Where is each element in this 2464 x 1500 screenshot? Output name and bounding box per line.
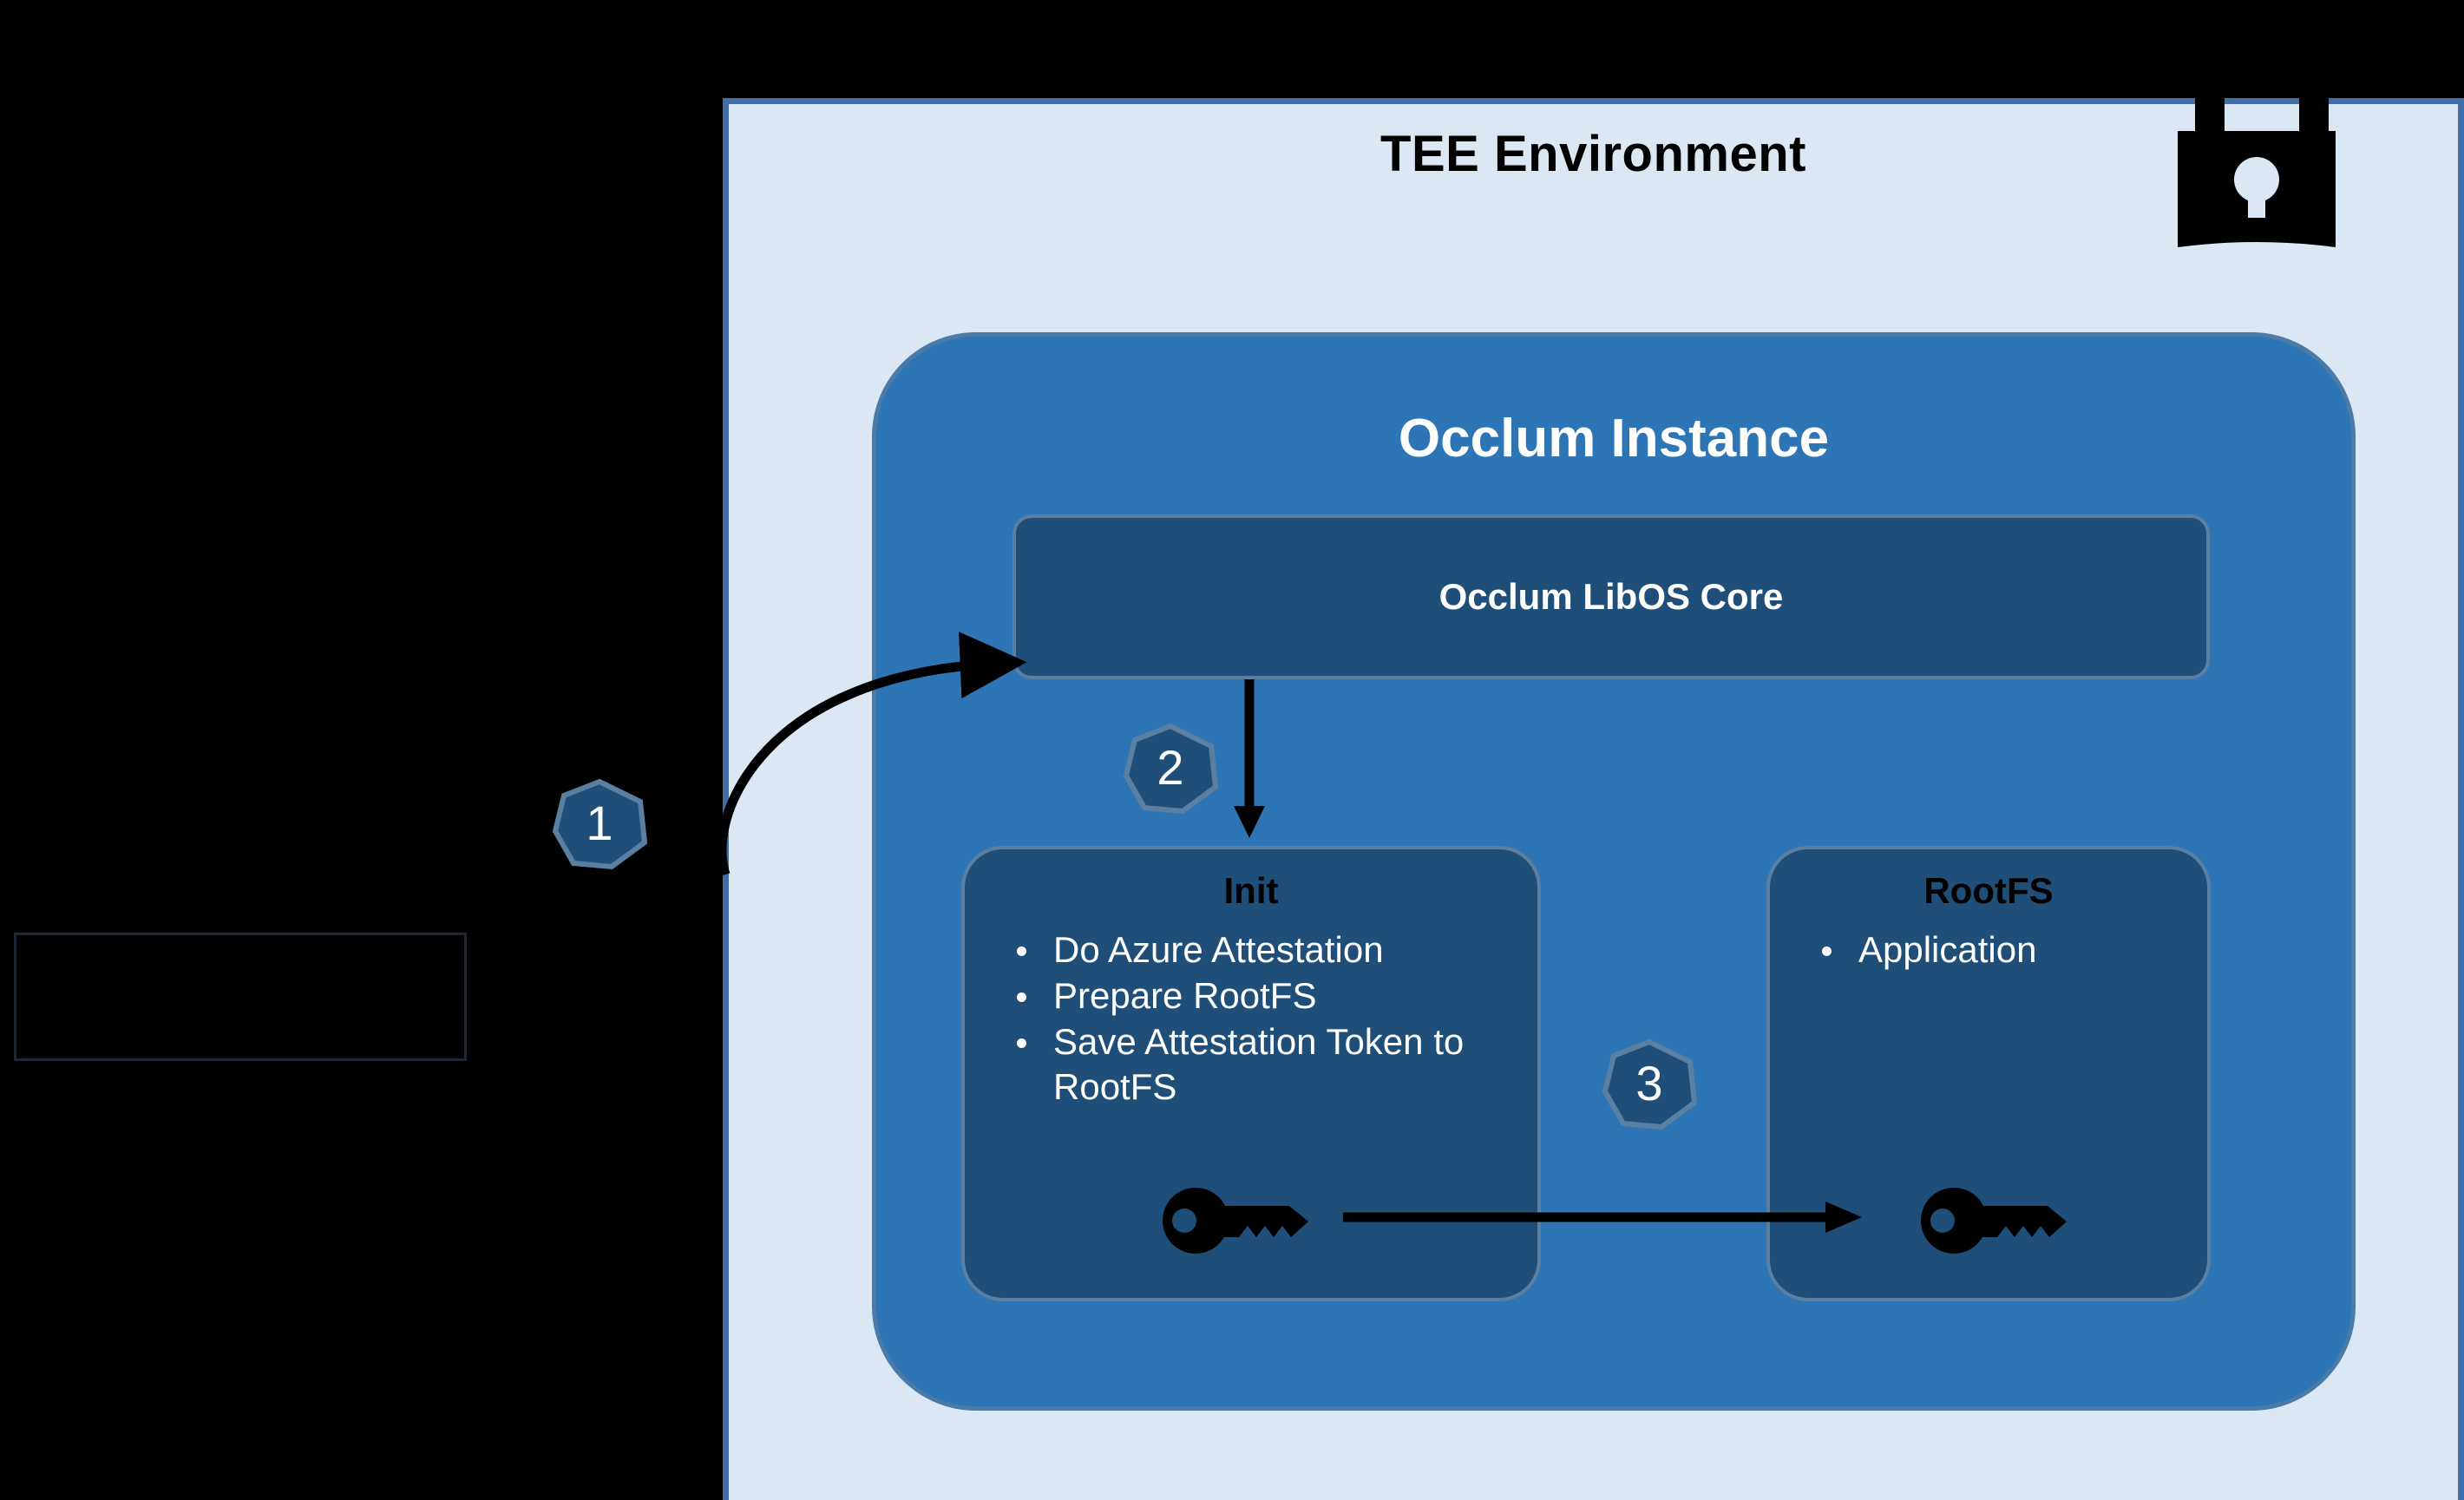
occlum-libos-core-label: Occlum LibOS Core	[1439, 576, 1784, 618]
step-number: 3	[1635, 1059, 1662, 1110]
arrow-vertical	[1223, 679, 1275, 838]
step-number: 1	[586, 799, 613, 850]
arrow-horizontal	[1343, 1200, 1864, 1235]
lock-icon	[2166, 39, 2348, 252]
diagram-canvas: TEE Environment Occlum Instance Occlum L…	[0, 0, 2464, 1500]
list-item: Application	[1810, 927, 2207, 972]
init-bullet-list: Do Azure Attestation Prepare RootFS Save…	[965, 927, 1537, 1109]
rootfs-bullet-list: Application	[1770, 927, 2207, 972]
step-badge-2: 2	[1122, 724, 1219, 814]
step-number: 2	[1157, 743, 1183, 795]
key-icon	[1919, 1187, 2075, 1254]
occlum-libos-core-box: Occlum LibOS Core	[1012, 514, 2210, 679]
list-item: Do Azure Attestation	[1005, 927, 1537, 972]
occlum-instance-title: Occlum Instance	[872, 408, 2356, 469]
init-title: Init	[965, 870, 1537, 912]
step-badge-1: 1	[551, 779, 648, 869]
rootfs-title: RootFS	[1770, 870, 2207, 912]
list-item: Prepare RootFS	[1005, 973, 1537, 1018]
arrow-curved	[694, 538, 1058, 876]
key-icon	[1161, 1187, 1317, 1254]
placeholder-rectangle	[14, 933, 467, 1061]
step-badge-3: 3	[1601, 1039, 1698, 1130]
list-item: Save Attestation Token to RootFS	[1005, 1019, 1537, 1108]
